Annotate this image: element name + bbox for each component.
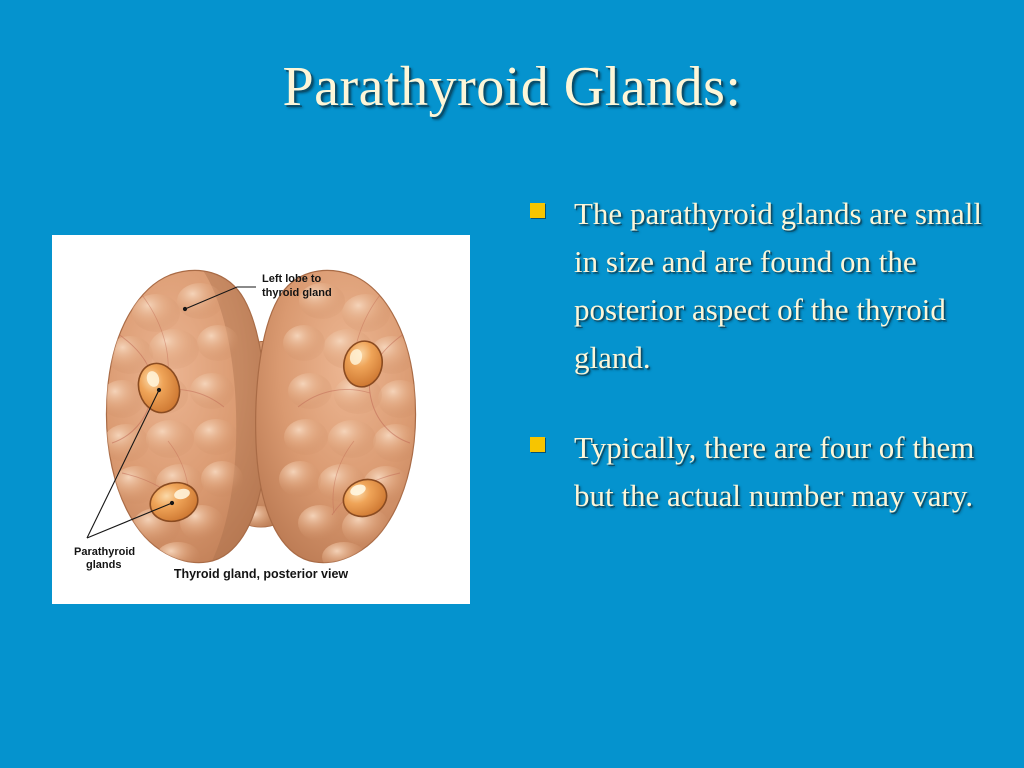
square-bullet-icon [530,437,545,452]
slide-body-content: The parathyroid glands are small in size… [528,190,988,520]
presentation-slide: Parathyroid Glands: [0,0,1024,768]
list-item: The parathyroid glands are small in size… [528,190,988,382]
figure-caption: Thyroid gland, posterior view [174,567,349,581]
list-item: Typically, there are four of them but th… [528,424,988,520]
bullet-text: Typically, there are four of them but th… [574,424,988,520]
thyroid-gland-diagram: Left lobe to thyroid gland Parathyroid g… [52,235,470,604]
square-bullet-icon [530,203,545,218]
left-lobe-label-line2: thyroid gland [262,287,332,299]
bullet-text: The parathyroid glands are small in size… [574,190,988,382]
page-title: Parathyroid Glands: [0,58,1024,117]
thyroid-illustration-panel: Left lobe to thyroid gland Parathyroid g… [52,235,470,604]
parathyroid-label-line2: glands [86,559,121,571]
left-lobe-label-line1: Left lobe to [262,273,322,285]
parathyroid-label-line1: Parathyroid [74,546,135,558]
